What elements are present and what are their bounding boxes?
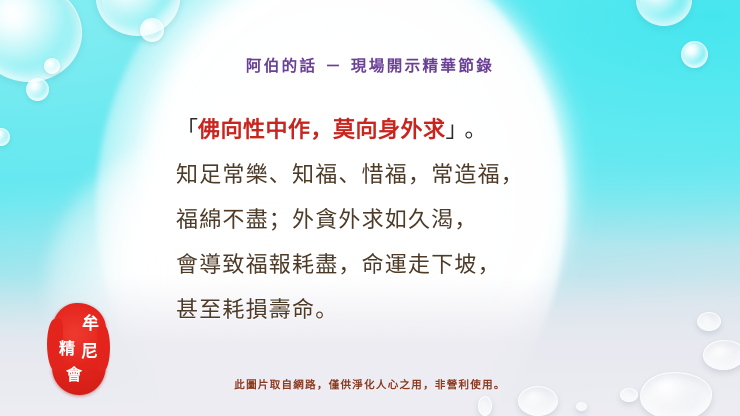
quote-close-bracket: 」	[446, 118, 457, 143]
verse-line: 甚至耗損壽命。	[176, 288, 596, 333]
seal-glyph-group: 牟 精 會 尼	[52, 303, 106, 395]
quote-open-bracket: 「	[176, 118, 198, 143]
seal-glyph: 牟	[82, 316, 99, 333]
verse-line-quote: 「佛向性中作，莫向身外求」。	[176, 108, 596, 153]
slide-canvas: 阿伯的話 － 現場開示精華節錄 「佛向性中作，莫向身外求」。 知足常樂、知福、惜…	[0, 0, 740, 416]
water-droplet-decoration	[576, 402, 587, 411]
seal-glyph: 尼	[81, 344, 98, 361]
seal-glyph: 會	[66, 367, 82, 383]
quote-highlight-text: 佛向性中作，莫向身外求	[198, 117, 446, 143]
bubble-decoration	[26, 78, 49, 101]
footer-credit: 此圖片取自網路，僅供淨化人心之用，非營利使用。	[0, 377, 740, 392]
quote-period: 。	[465, 118, 487, 143]
verse-line: 福綿不盡；外貪外求如久渴，	[176, 198, 596, 243]
verse-line: 會導致福報耗盡，命運走下坡，	[176, 243, 596, 288]
page-title: 阿伯的話 － 現場開示精華節錄	[0, 54, 740, 76]
water-droplet-decoration	[703, 340, 740, 370]
verse-block: 「佛向性中作，莫向身外求」。 知足常樂、知福、惜福，常造福， 福綿不盡；外貪外求…	[176, 108, 596, 333]
seal-stamp: 牟 精 會 尼	[52, 303, 106, 395]
verse-line: 知足常樂、知福、惜福，常造福，	[176, 153, 596, 198]
water-droplet-decoration	[478, 396, 492, 416]
water-droplet-decoration	[697, 312, 721, 331]
seal-glyph: 精	[59, 341, 75, 357]
bubble-decoration	[140, 18, 164, 42]
